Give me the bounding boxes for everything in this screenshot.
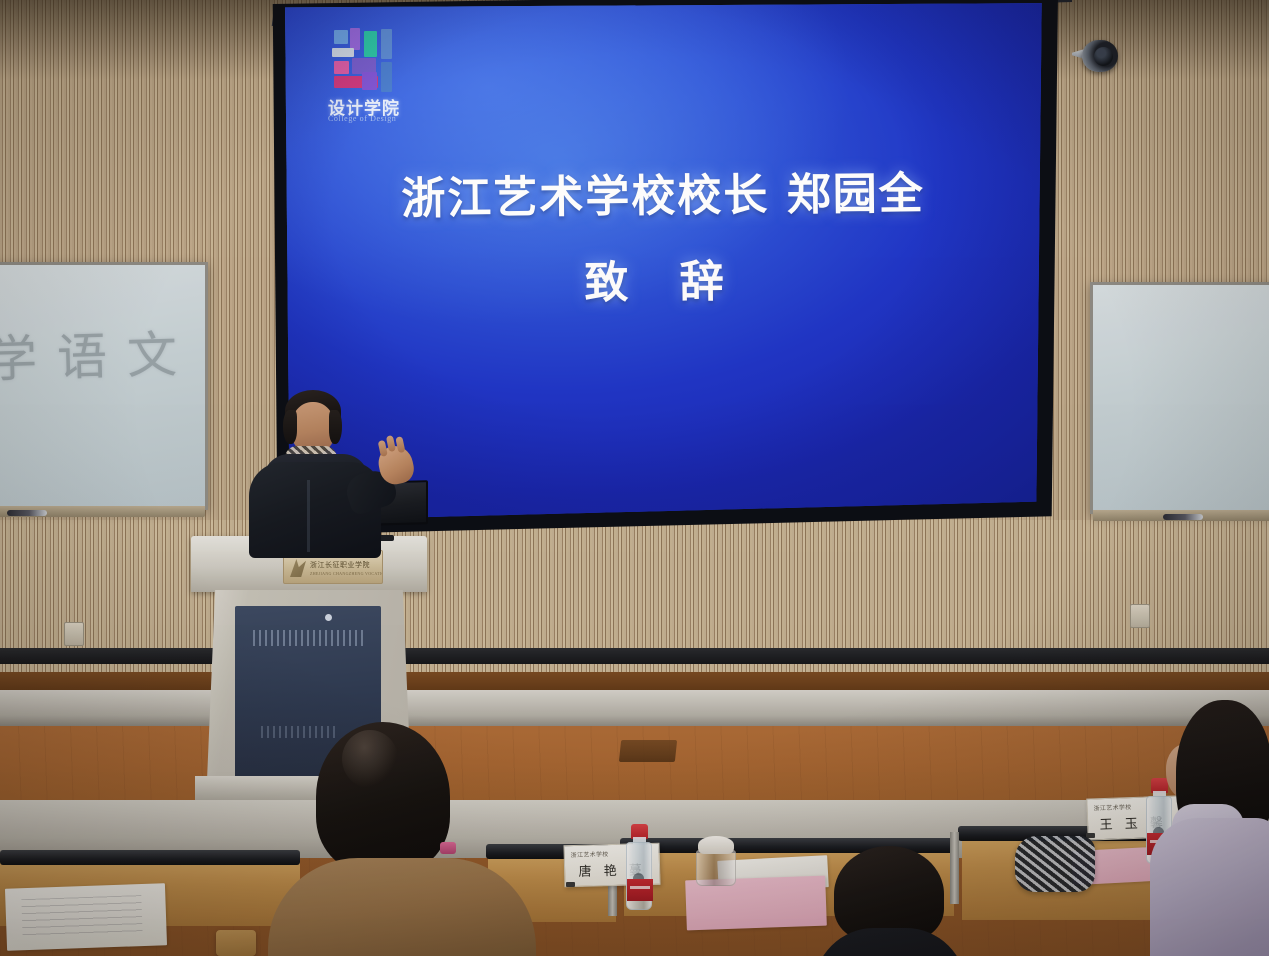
audience-left-hair-sheen bbox=[342, 730, 398, 788]
chair-back-left bbox=[216, 930, 256, 956]
name-card-right-org: 浙江艺术学校 bbox=[1093, 802, 1131, 812]
security-camera-icon bbox=[1072, 38, 1124, 80]
camera-lens bbox=[1094, 47, 1113, 66]
audience-right-jacket bbox=[1150, 818, 1269, 956]
lecture-hall-photo: 学语文 bbox=[0, 0, 1269, 956]
audience-left-coat bbox=[268, 858, 536, 956]
audience-mid-body bbox=[814, 928, 966, 956]
whiteboard-left-writing: 学语文 bbox=[0, 314, 198, 391]
glass-cup bbox=[696, 836, 736, 886]
podium-plaque-text: 浙江长征职业学院 bbox=[310, 560, 370, 570]
bottle-label-center bbox=[627, 879, 653, 901]
cup-body bbox=[696, 850, 736, 886]
whiteboard-left: 学语文 bbox=[0, 262, 208, 510]
bottle-label-line-center bbox=[630, 886, 650, 889]
wall-outlet-right bbox=[1130, 604, 1150, 628]
cup-lid bbox=[698, 836, 734, 854]
desk-rail-left bbox=[0, 850, 300, 865]
bottle-body-center bbox=[626, 842, 652, 910]
speaker-hair-left bbox=[283, 410, 297, 444]
audience-person-mid bbox=[820, 846, 960, 956]
paper-left bbox=[5, 883, 167, 951]
whiteboard-marker-right bbox=[1163, 514, 1203, 520]
audience-person-right bbox=[1148, 700, 1269, 956]
wall-outlet-left bbox=[64, 622, 84, 646]
water-bottle-center bbox=[626, 824, 652, 910]
floor-vent bbox=[619, 740, 677, 762]
speaker-finger-2 bbox=[386, 435, 396, 452]
paper-left-lines bbox=[21, 895, 142, 936]
audience-left-hair-clip bbox=[440, 842, 456, 854]
podium-indicator-dot bbox=[325, 614, 332, 621]
whiteboard-marker-left bbox=[7, 510, 47, 516]
speaker-finger-3 bbox=[395, 436, 405, 453]
name-card-center-clip bbox=[566, 882, 575, 887]
podium-plaque-subtext: ZHEJIANG CHANGZHENG VOCATIONAL COLLEGE bbox=[310, 571, 383, 576]
speaker-presenter bbox=[243, 388, 423, 558]
audience-person-left bbox=[268, 722, 536, 956]
podium-vent-row-1 bbox=[253, 630, 363, 646]
scarf-on-desk bbox=[1015, 836, 1095, 892]
whiteboard-right bbox=[1090, 282, 1269, 514]
speaker-coat-seam bbox=[307, 480, 310, 552]
podium-plaque-logo-icon bbox=[290, 559, 306, 577]
name-card-center-org: 浙江艺术学校 bbox=[571, 849, 609, 859]
speaker-hair-right bbox=[329, 410, 342, 444]
